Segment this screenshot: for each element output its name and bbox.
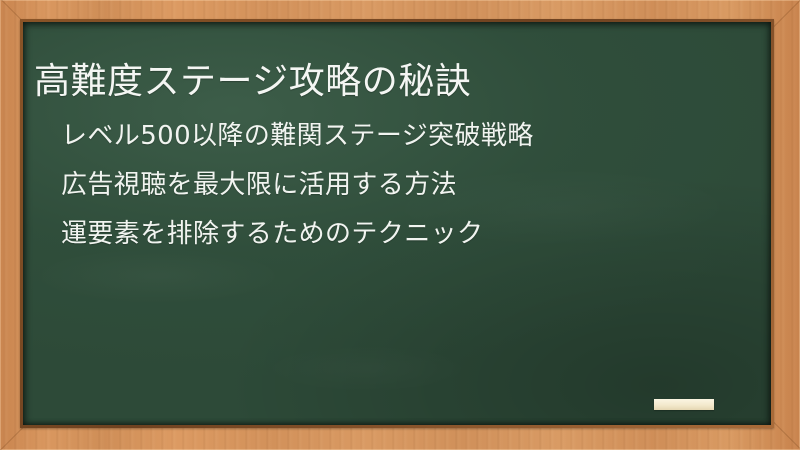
chalkboard-slide: 高難度ステージ攻略の秘訣 レベル500以降の難関ステージ突破戦略 広告視聴を最大…: [0, 0, 800, 450]
bullet-item: 運要素を排除するためのテクニック: [61, 210, 751, 259]
chalkboard-surface: 高難度ステージ攻略の秘訣 レベル500以降の難関ステージ突破戦略 広告視聴を最大…: [23, 22, 771, 425]
bullet-list: レベル500以降の難関ステージ突破戦略 広告視聴を最大限に活用する方法 運要素を…: [61, 112, 751, 259]
chalkboard: 高難度ステージ攻略の秘訣 レベル500以降の難関ステージ突破戦略 広告視聴を最大…: [20, 19, 774, 428]
bullet-item: レベル500以降の難関ステージ突破戦略: [61, 112, 751, 161]
slide-content: 高難度ステージ攻略の秘訣 レベル500以降の難関ステージ突破戦略 広告視聴を最大…: [23, 22, 771, 425]
chalk-stick-icon: [654, 399, 714, 410]
slide-title: 高難度ステージ攻略の秘訣: [34, 58, 754, 106]
bullet-item: 広告視聴を最大限に活用する方法: [61, 161, 751, 210]
